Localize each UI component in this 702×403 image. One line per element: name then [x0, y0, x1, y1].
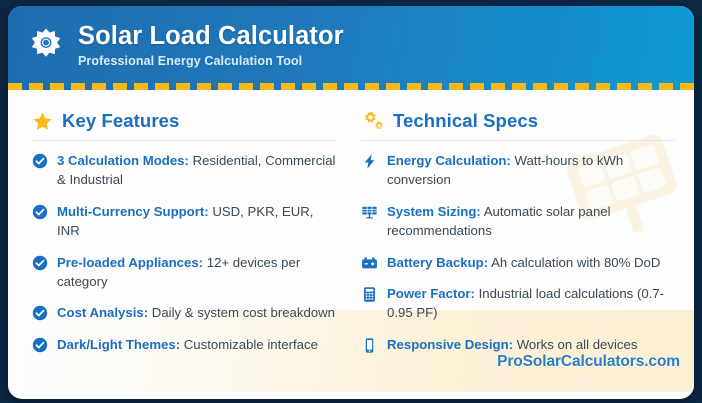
sun-icon: [26, 26, 66, 66]
star-icon: [32, 111, 53, 132]
check-circle-icon: [32, 305, 48, 321]
technical-specs-column: Technical Specs Energy Calculation: Watt…: [351, 90, 694, 392]
feature-label: Multi-Currency Support:: [57, 204, 209, 219]
brand-watermark: ProSolarCalculators.com: [497, 353, 680, 371]
spec-label: Responsive Design:: [387, 337, 513, 352]
gears-icon: [361, 111, 384, 132]
spec-label: System Sizing:: [387, 204, 481, 219]
feature-text: 3 Calculation Modes: Residential, Commer…: [57, 151, 337, 190]
bolt-icon: [361, 153, 378, 170]
list-item: Multi-Currency Support: USD, PKR, EUR, I…: [32, 202, 337, 241]
list-item: Pre-loaded Appliances: 12+ devices per c…: [32, 253, 337, 292]
technical-specs-divider: [361, 140, 674, 141]
check-circle-icon: [32, 255, 48, 271]
spec-text: Responsive Design: Works on all devices: [387, 335, 637, 354]
key-features-heading: Key Features: [32, 110, 337, 132]
feature-label: Cost Analysis:: [57, 305, 148, 320]
app-card: Solar Load Calculator Professional Energ…: [8, 6, 694, 399]
feature-label: Pre-loaded Appliances:: [57, 255, 203, 270]
spec-text: Power Factor: Industrial load calculatio…: [387, 284, 678, 323]
feature-label: 3 Calculation Modes:: [57, 153, 189, 168]
spec-detail: Works on all devices: [513, 337, 637, 352]
spec-label: Battery Backup:: [387, 255, 488, 270]
technical-specs-heading: Technical Specs: [361, 110, 678, 132]
list-item: Cost Analysis: Daily & system cost break…: [32, 303, 337, 322]
feature-text: Dark/Light Themes: Customizable interfac…: [57, 335, 318, 354]
list-item: System Sizing: Automatic solar panel rec…: [361, 202, 678, 241]
spec-text: Battery Backup: Ah calculation with 80% …: [387, 253, 660, 272]
feature-text: Cost Analysis: Daily & system cost break…: [57, 303, 335, 322]
feature-detail: Daily & system cost breakdown: [148, 305, 335, 320]
battery-icon: [361, 255, 378, 272]
check-circle-icon: [32, 337, 48, 353]
feature-text: Pre-loaded Appliances: 12+ devices per c…: [57, 253, 337, 292]
spec-detail: Ah calculation with 80% DoD: [488, 255, 660, 270]
spec-text: Energy Calculation: Watt-hours to kWh co…: [387, 151, 678, 190]
page-subtitle: Professional Energy Calculation Tool: [78, 54, 344, 68]
key-features-list: 3 Calculation Modes: Residential, Commer…: [32, 151, 337, 354]
list-item: Power Factor: Industrial load calculatio…: [361, 284, 678, 323]
check-circle-icon: [32, 153, 48, 169]
check-circle-icon: [32, 204, 48, 220]
solar-panel-icon: [361, 204, 378, 221]
page-title: Solar Load Calculator: [78, 23, 344, 50]
list-item: Responsive Design: Works on all devices: [361, 335, 678, 354]
feature-text: Multi-Currency Support: USD, PKR, EUR, I…: [57, 202, 337, 241]
technical-specs-list: Energy Calculation: Watt-hours to kWh co…: [361, 151, 678, 354]
calculator-icon: [361, 286, 378, 303]
key-features-divider: [32, 140, 337, 141]
content-area: Key Features 3 Calculation Modes: Reside…: [8, 90, 694, 392]
list-item: Dark/Light Themes: Customizable interfac…: [32, 335, 337, 354]
app-header: Solar Load Calculator Professional Energ…: [8, 6, 694, 90]
spec-label: Energy Calculation:: [387, 153, 511, 168]
key-features-column: Key Features 3 Calculation Modes: Reside…: [8, 90, 351, 392]
list-item: 3 Calculation Modes: Residential, Commer…: [32, 151, 337, 190]
feature-detail: Customizable interface: [180, 337, 318, 352]
technical-specs-title: Technical Specs: [393, 110, 538, 132]
list-item: Energy Calculation: Watt-hours to kWh co…: [361, 151, 678, 190]
key-features-title: Key Features: [62, 110, 179, 132]
mobile-icon: [361, 337, 378, 354]
spec-label: Power Factor:: [387, 286, 475, 301]
header-text-block: Solar Load Calculator Professional Energ…: [78, 21, 344, 69]
list-item: Battery Backup: Ah calculation with 80% …: [361, 253, 678, 272]
spec-text: System Sizing: Automatic solar panel rec…: [387, 202, 678, 241]
feature-label: Dark/Light Themes:: [57, 337, 180, 352]
